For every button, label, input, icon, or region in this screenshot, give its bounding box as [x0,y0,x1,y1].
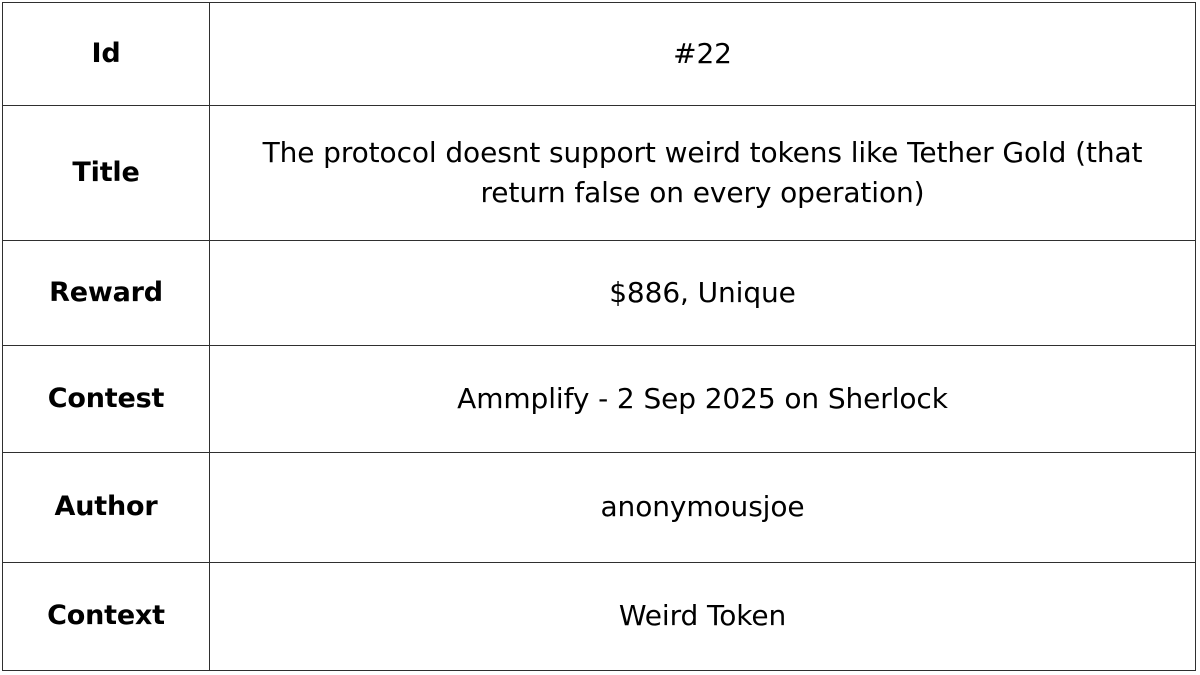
row-label-id: Id [3,3,210,106]
table-body: Id #22 Title The protocol doesnt support… [3,3,1196,671]
row-label-title: Title [3,106,210,241]
row-value-context: Weird Token [210,563,1196,671]
table-row: Reward $886, Unique [3,241,1196,346]
row-label-context: Context [3,563,210,671]
table-row: Context Weird Token [3,563,1196,671]
row-value-contest: Ammplify - 2 Sep 2025 on Sherlock [210,346,1196,453]
row-label-reward: Reward [3,241,210,346]
table-row: Id #22 [3,3,1196,106]
row-label-contest: Contest [3,346,210,453]
finding-summary-table: Id #22 Title The protocol doesnt support… [2,2,1196,671]
page-root: Id #22 Title The protocol doesnt support… [0,0,1200,675]
row-value-reward: $886, Unique [210,241,1196,346]
table-row: Contest Ammplify - 2 Sep 2025 on Sherloc… [3,346,1196,453]
table-row: Author anonymousjoe [3,453,1196,563]
table-row: Title The protocol doesnt support weird … [3,106,1196,241]
row-label-author: Author [3,453,210,563]
row-value-author: anonymousjoe [210,453,1196,563]
row-value-id: #22 [210,3,1196,106]
row-value-title: The protocol doesnt support weird tokens… [210,106,1196,241]
